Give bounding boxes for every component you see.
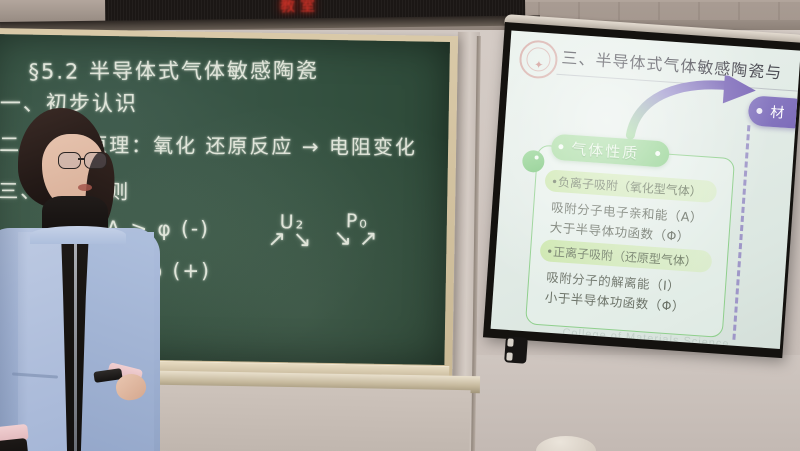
- pill-dot-right-icon: [655, 151, 660, 156]
- coat-placket: [74, 238, 77, 451]
- sleeve-inner-left: [0, 438, 29, 451]
- blackboard-arrows-left: ↗ ↘: [267, 227, 311, 253]
- classroom-photo: 教室 §5.2 半导体式气体敏感陶瓷 一、初步认识 二、基本原理：氧化 还原反应…: [0, 0, 800, 451]
- glasses-bridge: [78, 158, 85, 160]
- blackboard-title: §5.2 半导体式气体敏感陶瓷: [28, 55, 319, 86]
- coat-shading: [0, 228, 28, 451]
- university-seal-logo: ✦: [518, 39, 559, 80]
- slide-node-material: 材: [747, 95, 800, 129]
- coat-collar: [30, 226, 126, 244]
- slide-section-pill-label: 气体性质: [571, 138, 640, 164]
- slide-dashed-connector: [732, 125, 750, 340]
- bracket-bolt-top-icon: [507, 338, 514, 346]
- slide-node-label: 材: [770, 102, 785, 123]
- seal-star-icon: ✦: [534, 58, 544, 72]
- projector-screen-surface: ✦ 三、半导体式气体敏感陶瓷与 材: [491, 30, 800, 349]
- led-banner-text: 教室: [280, 0, 320, 16]
- pill-dot-left-icon: [558, 144, 563, 149]
- projector-screen-frame: ✦ 三、半导体式气体敏感陶瓷与 材: [483, 22, 800, 358]
- bracket-bolt-bottom-icon: [506, 352, 513, 360]
- eyeglasses: [58, 152, 108, 167]
- glasses-lens-left: [58, 152, 81, 169]
- glasses-lens-right: [84, 152, 107, 169]
- wall-mount-bracket: [504, 336, 528, 363]
- coat-right-panel: [78, 232, 154, 451]
- node-bullet-dot-icon: [756, 108, 762, 114]
- blackboard-arrows-right: ↘ ↗: [333, 226, 377, 252]
- mouth: [78, 184, 92, 191]
- instructor-figure: [0, 108, 170, 451]
